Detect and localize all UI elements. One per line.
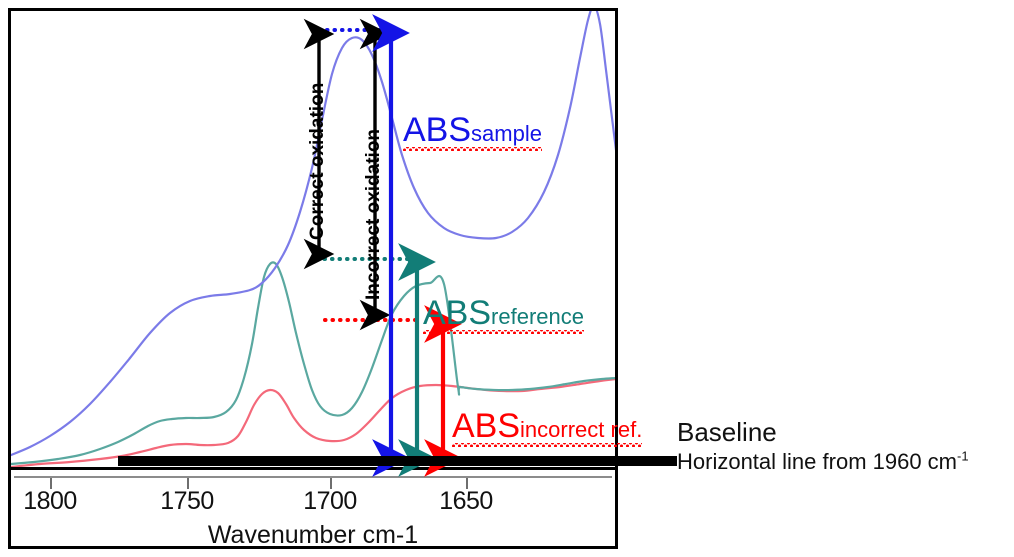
axis-tick-label: 1650: [439, 487, 493, 516]
axis-line: [14, 476, 612, 478]
baseline-note: Baseline Horizontal line from 1960 cm-1: [677, 418, 1007, 474]
abs-sample-sub: sample: [471, 121, 542, 146]
abs-incorrect-main: ABS: [452, 407, 520, 445]
abs-reference-sub: reference: [491, 304, 584, 329]
axis-title: Wavenumber cm-1: [8, 521, 618, 550]
label-abs-sample: ABSsample: [403, 113, 542, 147]
baseline-note-subtitle: Horizontal line from 1960 cm-1: [677, 449, 1007, 474]
abs-sample-main: ABS: [403, 111, 471, 149]
figure-stage: 1800175017001650 Wavenumber cm-1: [0, 0, 1014, 557]
abs-reference-main: ABS: [423, 294, 491, 332]
baseline-bar: [118, 456, 677, 466]
baseline-note-title: Baseline: [677, 418, 1007, 447]
label-abs-incorrect-reference: ABSincorrect ref.: [452, 409, 642, 443]
label-incorrect-oxidation: Incorrect oxidation: [363, 129, 385, 300]
axis-tick-label: 1750: [160, 487, 214, 516]
baseline-note-superscript: -1: [957, 449, 969, 464]
baseline-note-subtitle-text: Horizontal line from 1960 cm: [677, 449, 957, 474]
abs-incorrect-sub: incorrect ref.: [520, 417, 642, 442]
label-correct-oxidation: Correct oxidation: [307, 83, 329, 240]
axis-tick-label: 1800: [23, 487, 77, 516]
axis-tick-label: 1700: [303, 487, 357, 516]
label-abs-reference: ABSreference: [423, 296, 584, 330]
